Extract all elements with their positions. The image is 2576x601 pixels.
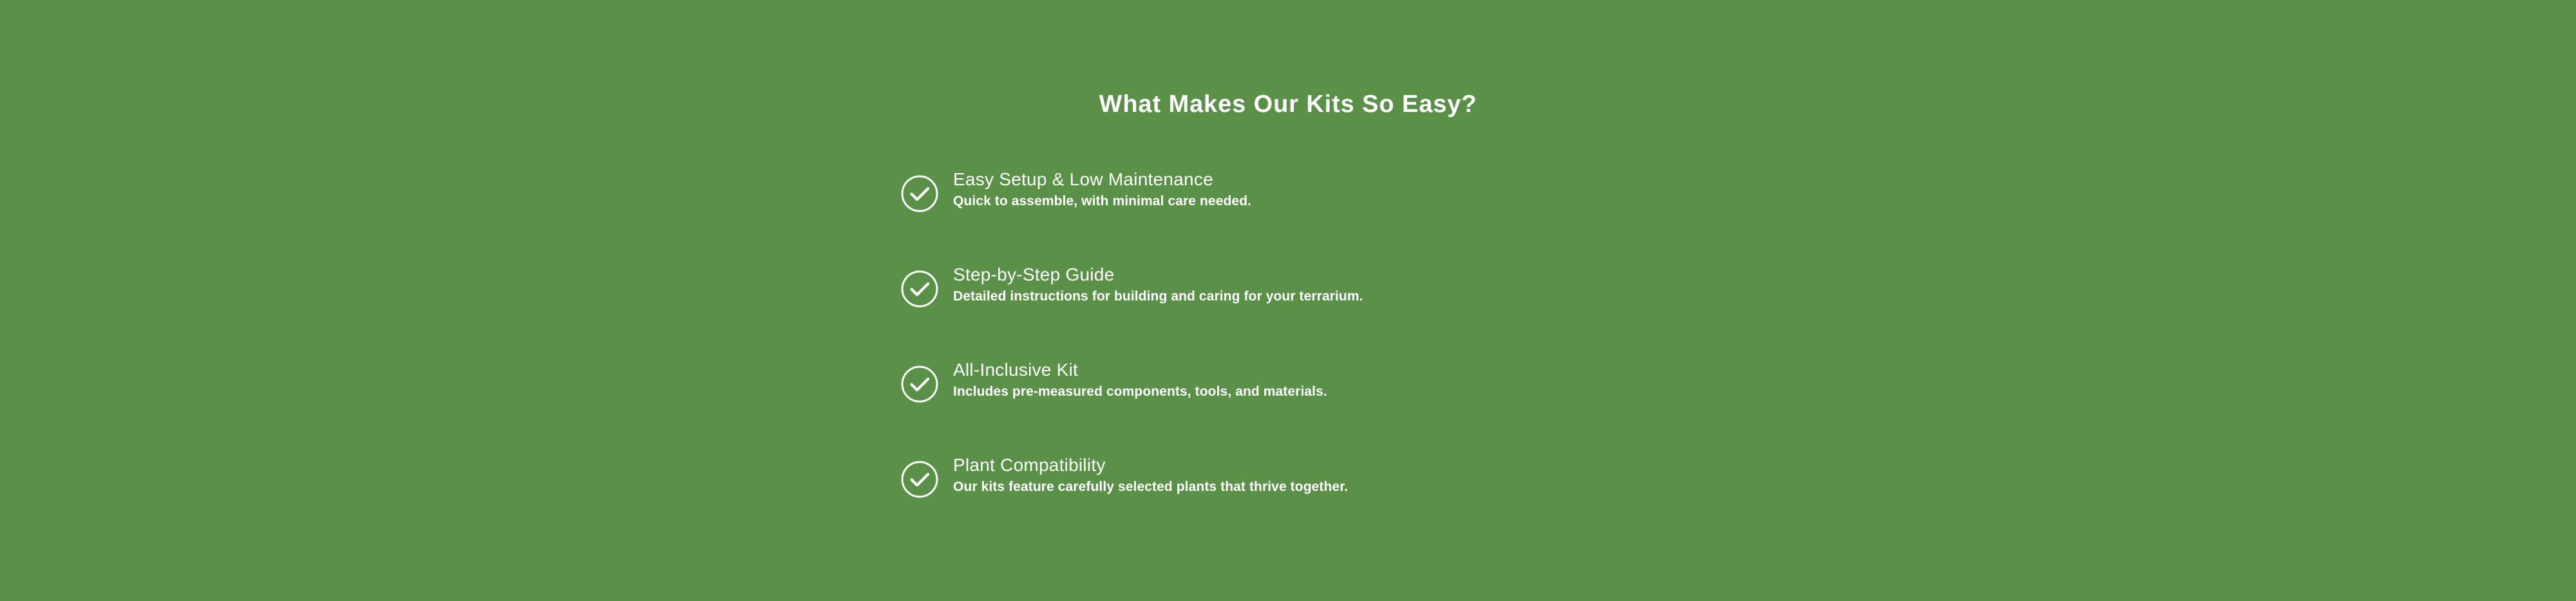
check-circle-icon: [900, 365, 939, 403]
benefits-list: Easy Setup & Low Maintenance Quick to as…: [900, 169, 1802, 550]
list-item-text: Plant Compatibility Our kits feature car…: [953, 454, 1802, 496]
list-item: Plant Compatibility Our kits feature car…: [900, 454, 1802, 550]
list-item: Easy Setup & Low Maintenance Quick to as…: [900, 169, 1802, 264]
list-item-description: Quick to assemble, with minimal care nee…: [953, 192, 1802, 210]
list-item-title: All-Inclusive Kit: [953, 359, 1802, 381]
list-item-text: Easy Setup & Low Maintenance Quick to as…: [953, 169, 1802, 210]
list-item-text: Step-by-Step Guide Detailed instructions…: [953, 264, 1802, 306]
check-circle-icon: [900, 174, 939, 213]
list-item-description: Detailed instructions for building and c…: [953, 288, 1802, 306]
page-title: What Makes Our Kits So Easy?: [0, 90, 2576, 120]
list-item-description: Our kits feature carefully selected plan…: [953, 478, 1802, 496]
check-circle-icon: [900, 270, 939, 308]
benefits-section-inner: What Makes Our Kits So Easy? Easy Setup …: [0, 0, 2576, 601]
list-item-title: Easy Setup & Low Maintenance: [953, 169, 1802, 190]
list-item: Step-by-Step Guide Detailed instructions…: [900, 264, 1802, 359]
list-item-description: Includes pre-measured components, tools,…: [953, 383, 1802, 401]
list-item-title: Step-by-Step Guide: [953, 264, 1802, 286]
list-item-title: Plant Compatibility: [953, 454, 1802, 476]
list-item-text: All-Inclusive Kit Includes pre-measured …: [953, 359, 1802, 401]
check-circle-icon: [900, 460, 939, 499]
benefits-section: What Makes Our Kits So Easy? Easy Setup …: [0, 0, 2576, 601]
list-item: All-Inclusive Kit Includes pre-measured …: [900, 359, 1802, 454]
